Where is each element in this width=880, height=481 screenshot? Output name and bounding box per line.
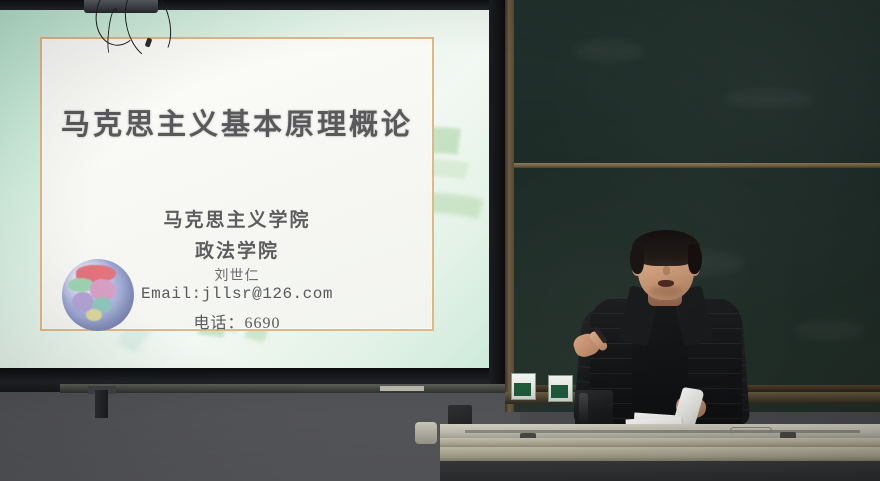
projection-screen: 马克思主义基本原理概论 马克思主义学院 政法学院 刘世仁 Email:jllsr…: [0, 0, 505, 392]
hair-side-right: [688, 244, 702, 274]
chalk-box: [548, 375, 573, 402]
chalk-smudge: [794, 320, 864, 340]
screen-top-frame: [0, 0, 505, 10]
desk-shadow: [440, 461, 880, 481]
screen-right-frame: [489, 0, 505, 392]
hair-side-left: [630, 244, 644, 274]
chalk-box: [511, 373, 536, 400]
eye-left: [650, 261, 658, 265]
podium-desk: [440, 424, 880, 481]
slide-subtitle-1: 马克思主义学院: [42, 205, 432, 232]
speaker-highlight: [579, 393, 588, 425]
mouth: [658, 280, 674, 287]
lecture-hall-photo: 马克思主义基本原理概论 马克思主义学院 政法学院 刘世仁 Email:jllsr…: [0, 0, 880, 481]
nose: [663, 266, 670, 275]
desk-left-fitting: [415, 422, 437, 444]
blackboard-frame-left: [505, 0, 514, 412]
chalk-smudge: [724, 90, 814, 108]
chalk-smudge: [574, 40, 644, 62]
screen-ledge: [60, 384, 505, 393]
eye-right: [674, 261, 682, 265]
presentation-slide: 马克思主义基本原理概论 马克思主义学院 政法学院 刘世仁 Email:jllsr…: [0, 9, 492, 369]
screen-ledge-strip: [380, 386, 424, 391]
globe-landmass: [86, 309, 102, 321]
globe-icon: [62, 259, 134, 331]
blackboard-rail-upper: [514, 163, 880, 168]
desk-handle: [730, 427, 772, 434]
desk-front-panel: [440, 447, 880, 461]
slide-title: 马克思主义基本原理概论: [42, 101, 432, 143]
screen-bracket: [95, 390, 108, 418]
